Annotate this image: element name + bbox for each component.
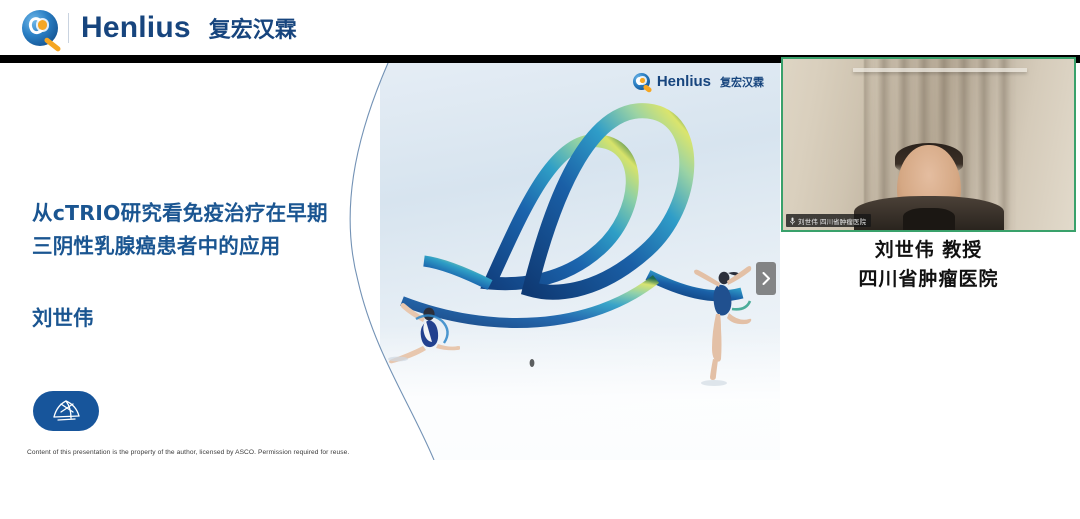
participant-shirt	[903, 208, 955, 230]
speaker-caption-line-1: 刘世伟 教授	[781, 236, 1076, 265]
screen-root: Henlius 复宏汉霖	[0, 0, 1080, 519]
speaker-caption: 刘世伟 教授 四川省肿瘤医院	[781, 236, 1076, 293]
slide-corner-logo: Henlius 复宏汉霖	[633, 73, 764, 90]
divider	[68, 13, 69, 43]
dancer-right	[680, 261, 758, 394]
henlius-logo-icon	[633, 73, 650, 90]
slide-title-line-1: 从cTRIO研究看免疫治疗在早期	[32, 197, 382, 230]
slide-disclaimer: Content of this presentation is the prop…	[27, 449, 349, 456]
chevron-right-icon	[762, 272, 771, 285]
slide-logo-chinese: 复宏汉霖	[720, 74, 764, 90]
slide-logo-wordmark: Henlius	[657, 73, 711, 90]
participant-name-label: 刘世伟 四川省肿瘤医院	[786, 214, 871, 227]
slide-title-line-2: 三阴性乳腺癌患者中的应用	[32, 230, 382, 263]
top-brand-bar: Henlius 复宏汉霖	[0, 0, 1080, 55]
hospital-emblem-icon	[33, 391, 99, 431]
participant-name-text: 刘世伟 四川省肿瘤医院	[798, 216, 866, 226]
slide-speaker-name: 刘世伟	[32, 301, 94, 331]
brand-chinese-name: 复宏汉霖	[209, 12, 297, 44]
speaker-caption-line-2: 四川省肿瘤医院	[781, 265, 1076, 294]
microphone-icon	[790, 217, 795, 225]
slide-bottom-padding	[0, 496, 780, 519]
slide-hero-image	[380, 63, 780, 460]
slide-title: 从cTRIO研究看免疫治疗在早期 三阴性乳腺癌患者中的应用	[32, 197, 382, 263]
participant-video-tile[interactable]: 刘世伟 四川省肿瘤医院	[781, 57, 1076, 232]
henlius-logo-icon	[22, 10, 58, 46]
shared-slide[interactable]: Henlius 复宏汉霖 从cTRIO研究看免疫治疗在早期 三阴性乳腺癌患者中的…	[0, 63, 780, 460]
brand-wordmark: Henlius	[81, 11, 191, 45]
video-background	[783, 59, 1074, 230]
next-slide-button[interactable]	[756, 262, 776, 295]
curtain-rod	[853, 68, 1028, 72]
